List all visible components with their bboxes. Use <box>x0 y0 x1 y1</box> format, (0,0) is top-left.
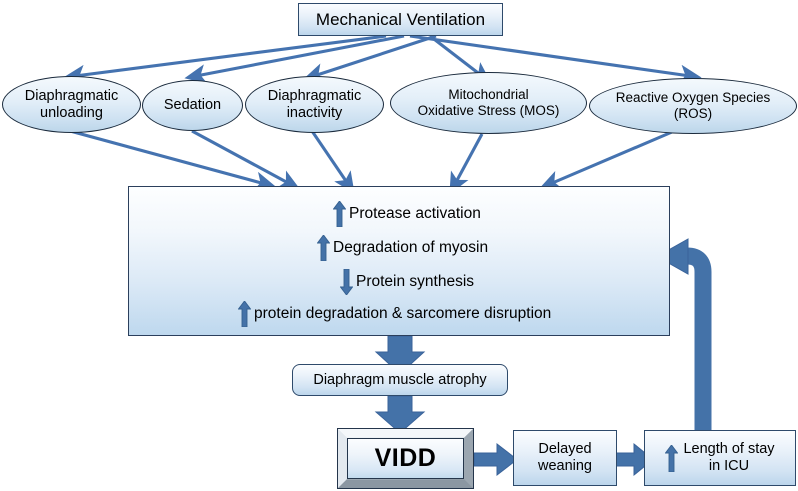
mechanism-protein-synthesis: Protein synthesis <box>340 269 474 295</box>
node-label-line2: in ICU <box>683 458 774 475</box>
node-label: VIDD <box>375 444 437 473</box>
node-label: Sedation <box>164 97 221 113</box>
up-arrow-icon <box>333 201 346 227</box>
node-label-lines: Length of stay in ICU <box>683 441 774 474</box>
mechanism-protease-activation: Protease activation <box>333 201 481 227</box>
causes-to-mechanism-arrows <box>70 131 672 184</box>
node-label-wrap: Length of stay in ICU <box>665 441 774 474</box>
mechanism-label: Protein synthesis <box>356 273 474 291</box>
mechanism-degradation-of-myosin: Degradation of myosin <box>317 235 488 261</box>
mechanism-protein-degradation-sarcomere-disruption: protein degradation & sarcomere disrupti… <box>238 301 551 327</box>
node-diaphragm-muscle-atrophy[interactable]: Diaphragm muscle atrophy <box>292 364 508 396</box>
node-label-wrap: Diaphragmatic unloading <box>25 88 119 121</box>
up-arrow-icon <box>238 301 251 327</box>
node-length-of-stay-icu[interactable]: Length of stay in ICU <box>644 430 796 486</box>
mv-to-causes-arrows <box>75 36 690 76</box>
node-label-line1: Diaphragmatic <box>268 88 362 105</box>
node-label-line2: inactivity <box>268 105 362 122</box>
node-label: Diaphragm muscle atrophy <box>313 372 486 388</box>
node-mechanism-box: Protease activation Degradation of myosi… <box>128 186 670 336</box>
node-label-wrap: Reactive Oxygen Species (ROS) <box>616 90 771 121</box>
node-label-line1: Length of stay <box>683 441 774 458</box>
node-label-line2: (ROS) <box>616 106 771 122</box>
up-arrow-icon <box>665 445 678 472</box>
down-arrow-icon <box>340 269 353 295</box>
node-label-line1: Reactive Oxygen Species <box>616 90 771 106</box>
node-label-line1: Diaphragmatic <box>25 88 119 105</box>
node-label-line2: weaning <box>538 458 592 475</box>
node-label-wrap: Delayed weaning <box>538 441 592 474</box>
node-label: Mechanical Ventilation <box>316 10 485 30</box>
node-mechanical-ventilation[interactable]: Mechanical Ventilation <box>298 3 503 36</box>
node-label-wrap: Diaphragmatic inactivity <box>268 88 362 121</box>
vidd-to-weaning-arrow <box>474 444 517 475</box>
up-arrow-icon <box>317 235 330 261</box>
node-reactive-oxygen-species[interactable]: Reactive Oxygen Species (ROS) <box>589 78 797 134</box>
diagram-canvas: Mechanical Ventilation Diaphragmatic unl… <box>0 0 798 491</box>
node-diaphragmatic-inactivity[interactable]: Diaphragmatic inactivity <box>245 76 384 133</box>
node-vidd-inner: VIDD <box>347 438 464 479</box>
node-label-line1: Mitochondrial <box>418 87 560 103</box>
node-diaphragmatic-unloading[interactable]: Diaphragmatic unloading <box>2 76 141 133</box>
node-label-line2: unloading <box>25 105 119 122</box>
node-sedation[interactable]: Sedation <box>142 80 243 131</box>
mechanism-label: Protease activation <box>349 205 481 223</box>
node-vidd[interactable]: VIDD <box>337 428 474 489</box>
node-label-line1: Delayed <box>538 441 592 458</box>
mechanism-label: Degradation of myosin <box>333 239 488 257</box>
mechanism-label: protein degradation & sarcomere disrupti… <box>254 305 551 323</box>
node-label-line2: Oxidative Stress (MOS) <box>418 103 560 119</box>
node-label-wrap: Mitochondrial Oxidative Stress (MOS) <box>418 87 560 118</box>
node-mitochondrial-oxidative-stress[interactable]: Mitochondrial Oxidative Stress (MOS) <box>390 72 587 134</box>
node-delayed-weaning[interactable]: Delayed weaning <box>513 430 617 486</box>
